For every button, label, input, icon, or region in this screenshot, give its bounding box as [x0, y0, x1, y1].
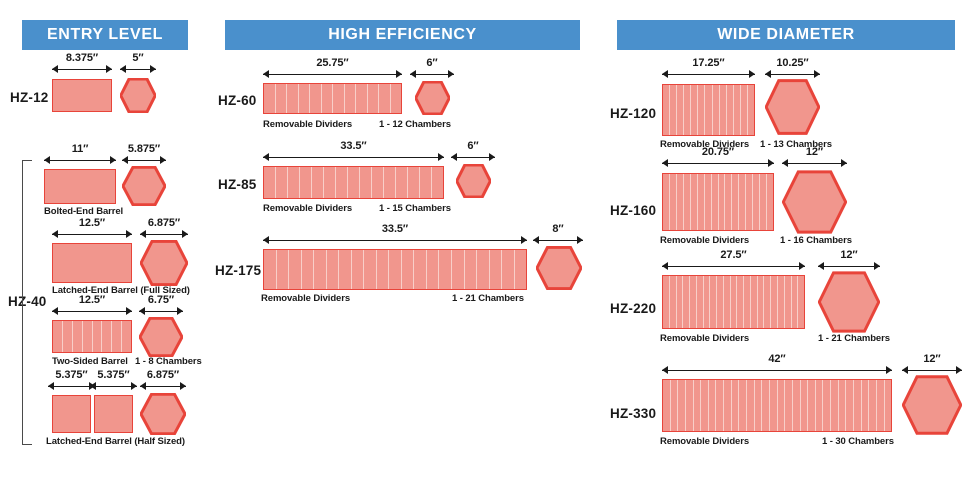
- arrowhead-right-icon: [814, 70, 820, 78]
- dimension-line-hex: [782, 159, 847, 168]
- chamber-segment: [704, 276, 711, 328]
- dimension-label: 5.875″: [122, 143, 166, 155]
- chamber-segment: [396, 167, 408, 198]
- chamber-segment: [744, 276, 751, 328]
- hexagon-shape: [902, 375, 962, 435]
- chamber-segment: [73, 321, 83, 352]
- chamber-segment: [276, 167, 288, 198]
- chamber-segment: [683, 276, 690, 328]
- dimension-label: 27.5″: [662, 249, 805, 261]
- chamber-segment: [122, 321, 131, 352]
- chamber-segment: [751, 276, 758, 328]
- arrowhead-left-icon: [90, 382, 96, 390]
- chamber-segment: [684, 85, 691, 135]
- shape-caption: 1 - 16 Chambers: [780, 235, 852, 246]
- chamber-segment: [670, 276, 677, 328]
- shape-caption: Removable Dividers: [263, 119, 352, 130]
- chamber-segment: [778, 380, 786, 431]
- arrowhead-left-icon: [263, 70, 269, 78]
- chamber-segment: [792, 276, 799, 328]
- arrowhead-left-icon: [782, 159, 788, 167]
- chamber-segment: [312, 167, 324, 198]
- shape-caption: Removable Dividers: [261, 293, 350, 304]
- group-bracket-hz-40: [22, 160, 32, 445]
- arrowhead-right-icon: [886, 366, 892, 374]
- chamber-segment: [663, 276, 670, 328]
- chamber-segment: [310, 84, 322, 113]
- arrowhead-right-icon: [956, 366, 962, 374]
- arrowhead-left-icon: [662, 70, 668, 78]
- barrel-rect: [52, 320, 132, 353]
- chamber-segment: [684, 174, 691, 230]
- dimension-bar: [533, 240, 583, 241]
- chamber-dividers: [53, 321, 131, 352]
- chamber-segment: [798, 276, 804, 328]
- dimension-line-hex: [765, 70, 820, 79]
- arrowhead-left-icon: [902, 366, 908, 374]
- chamber-segment: [732, 174, 739, 230]
- chamber-segment: [299, 84, 311, 113]
- chamber-segment: [725, 174, 732, 230]
- chamber-segment: [710, 276, 717, 328]
- chamber-segment: [93, 321, 103, 352]
- chamber-segment: [816, 380, 824, 431]
- chamber-segment: [746, 174, 753, 230]
- chamber-segment: [727, 85, 734, 135]
- chamber-segment: [705, 85, 712, 135]
- hexagon-shape: [818, 271, 880, 333]
- dimension-bar: [52, 234, 132, 235]
- chamber-segment: [713, 85, 720, 135]
- hexagon-shape: [140, 393, 186, 435]
- hexagon-shape: [140, 240, 188, 286]
- chamber-segment: [678, 380, 686, 431]
- model-label-hz-120: HZ-120: [610, 106, 656, 121]
- chamber-segment: [717, 276, 724, 328]
- chamber-segment: [287, 84, 299, 113]
- dimension-line-hex: [902, 366, 962, 375]
- arrowhead-right-icon: [110, 156, 116, 164]
- chamber-segment: [712, 174, 719, 230]
- dimension-label: 6″: [451, 140, 495, 152]
- chamber-segment: [391, 84, 402, 113]
- chamber-segment: [63, 321, 73, 352]
- dimension-label: 10.25″: [765, 57, 820, 69]
- shape-caption: 1 - 12 Chambers: [379, 119, 451, 130]
- chamber-segment: [288, 167, 300, 198]
- chamber-segment: [477, 250, 490, 289]
- chamber-segment: [694, 380, 702, 431]
- arrowhead-left-icon: [140, 382, 146, 390]
- arrowhead-left-icon: [263, 153, 269, 161]
- model-label-hz-160: HZ-160: [610, 203, 656, 218]
- arrowhead-right-icon: [841, 159, 847, 167]
- hexagon-shape: [120, 78, 156, 113]
- arrowhead-left-icon: [818, 262, 824, 270]
- dimension-bar: [52, 69, 112, 70]
- arrowhead-right-icon: [577, 236, 583, 244]
- chamber-segment: [698, 174, 705, 230]
- dimension-label: 5″: [120, 52, 156, 64]
- chamber-segment: [83, 321, 93, 352]
- dimension-bar: [782, 163, 847, 164]
- chamber-segment: [753, 174, 760, 230]
- arrowhead-left-icon: [44, 156, 50, 164]
- chamber-segment: [264, 250, 277, 289]
- chamber-segment: [670, 85, 677, 135]
- arrowhead-left-icon: [765, 70, 771, 78]
- chamber-segment: [439, 250, 452, 289]
- barrel-rect: [662, 173, 774, 231]
- dimension-label: 6.75″: [139, 294, 183, 306]
- dimension-label: 8″: [533, 223, 583, 235]
- arrowhead-right-icon: [160, 156, 166, 164]
- dimension-line-hex: [122, 156, 166, 165]
- chamber-segment: [452, 250, 465, 289]
- dimension-label: 20.75″: [662, 146, 774, 158]
- dimension-line-hex: [120, 65, 156, 74]
- arrowhead-right-icon: [150, 65, 156, 73]
- chamber-segment: [764, 276, 771, 328]
- chamber-segment: [698, 85, 705, 135]
- chamber-segment: [719, 174, 726, 230]
- barrel-rect: [52, 79, 112, 112]
- chamber-segment: [372, 167, 384, 198]
- barrel-rect: [52, 395, 91, 433]
- arrowhead-left-icon: [533, 236, 539, 244]
- arrowhead-right-icon: [182, 230, 188, 238]
- dimension-line-hex: [140, 382, 186, 391]
- arrowhead-left-icon: [410, 70, 416, 78]
- dimension-line-rect: [52, 307, 132, 316]
- dimension-bar: [902, 370, 962, 371]
- chamber-segment: [846, 380, 854, 431]
- arrowhead-right-icon: [874, 262, 880, 270]
- barrel-rect: [662, 84, 755, 136]
- shape-caption: 1 - 21 Chambers: [818, 333, 890, 344]
- chamber-dividers: [663, 174, 773, 230]
- chamber-segment: [322, 84, 334, 113]
- arrowhead-left-icon: [120, 65, 126, 73]
- barrel-rect: [662, 379, 892, 432]
- chamber-segment: [854, 380, 862, 431]
- model-label-hz-175: HZ-175: [215, 263, 261, 278]
- dimension-label: 12″: [782, 146, 847, 158]
- dimension-bar: [263, 74, 402, 75]
- chamber-segment: [427, 250, 440, 289]
- model-label-hz-12: HZ-12: [10, 90, 49, 105]
- chamber-segment: [663, 380, 671, 431]
- chamber-segment: [356, 84, 368, 113]
- shape-caption: Two-Sided Barrel: [52, 356, 128, 367]
- chamber-dividers: [264, 84, 401, 113]
- arrowhead-left-icon: [52, 230, 58, 238]
- chamber-segment: [716, 380, 724, 431]
- barrel-rect: [263, 166, 444, 199]
- dimension-line-rect: [52, 230, 132, 239]
- hexagon-shape: [415, 81, 450, 115]
- dimension-bar: [662, 266, 805, 267]
- shape-caption: Latched-End Barrel (Half Sized): [46, 436, 185, 447]
- chamber-dividers: [264, 167, 443, 198]
- hexagon-shape: [536, 246, 582, 290]
- arrowhead-right-icon: [448, 70, 454, 78]
- arrowhead-left-icon: [139, 307, 145, 315]
- diagram-canvas: ENTRY LEVELHZ-128.375″5″HZ-4011″Bolted-E…: [0, 0, 980, 478]
- dimension-bar: [662, 74, 755, 75]
- chamber-segment: [785, 276, 792, 328]
- chamber-segment: [677, 276, 684, 328]
- dimension-line-rect: [48, 382, 95, 391]
- barrel-rect: [44, 169, 116, 204]
- dimension-label: 5.375″: [90, 369, 137, 381]
- arrowhead-right-icon: [106, 65, 112, 73]
- dimension-line-hex: [818, 262, 880, 271]
- chamber-segment: [709, 380, 717, 431]
- arrowhead-right-icon: [749, 70, 755, 78]
- chamber-segment: [345, 84, 357, 113]
- model-label-hz-60: HZ-60: [218, 93, 257, 108]
- dimension-label: 42″: [662, 353, 892, 365]
- chamber-segment: [885, 380, 892, 431]
- chamber-segment: [348, 167, 360, 198]
- chamber-segment: [705, 174, 712, 230]
- chamber-segment: [379, 84, 391, 113]
- chamber-segment: [663, 174, 670, 230]
- arrowhead-right-icon: [396, 70, 402, 78]
- chamber-segment: [264, 167, 276, 198]
- dimension-bar: [818, 266, 880, 267]
- dimension-label: 12.5″: [52, 217, 132, 229]
- chamber-segment: [697, 276, 704, 328]
- arrowhead-right-icon: [489, 153, 495, 161]
- chamber-segment: [360, 167, 372, 198]
- chamber-segment: [368, 84, 380, 113]
- chamber-segment: [276, 84, 288, 113]
- chamber-segment: [686, 380, 694, 431]
- arrowhead-right-icon: [438, 153, 444, 161]
- dimension-label: 6.875″: [140, 217, 188, 229]
- chamber-segment: [778, 276, 785, 328]
- dimension-bar: [52, 311, 132, 312]
- arrowhead-left-icon: [263, 236, 269, 244]
- dimension-bar: [662, 163, 774, 164]
- chamber-segment: [869, 380, 877, 431]
- column-header-entry-level: ENTRY LEVEL: [22, 20, 188, 50]
- chamber-segment: [314, 250, 327, 289]
- chamber-segment: [420, 167, 432, 198]
- chamber-dividers: [264, 250, 526, 289]
- dimension-line-rect: [263, 236, 527, 245]
- chamber-segment: [877, 380, 885, 431]
- arrowhead-left-icon: [122, 156, 128, 164]
- dimension-label: 17.25″: [662, 57, 755, 69]
- arrowhead-right-icon: [131, 382, 137, 390]
- chamber-segment: [465, 250, 478, 289]
- chamber-segment: [734, 85, 741, 135]
- barrel-rect: [263, 83, 402, 114]
- chamber-segment: [862, 380, 870, 431]
- dimension-label: 25.75″: [263, 57, 402, 69]
- chamber-segment: [801, 380, 809, 431]
- chamber-segment: [336, 167, 348, 198]
- chamber-segment: [831, 380, 839, 431]
- chamber-segment: [327, 250, 340, 289]
- chamber-segment: [701, 380, 709, 431]
- chamber-segment: [758, 276, 765, 328]
- chamber-segment: [515, 250, 527, 289]
- model-label-hz-85: HZ-85: [218, 177, 257, 192]
- dimension-line-rect: [90, 382, 137, 391]
- chamber-segment: [691, 174, 698, 230]
- dimension-line-rect: [263, 153, 444, 162]
- chamber-segment: [839, 380, 847, 431]
- chamber-segment: [339, 250, 352, 289]
- arrowhead-left-icon: [48, 382, 54, 390]
- dimension-label: 6″: [410, 57, 454, 69]
- arrowhead-left-icon: [662, 366, 668, 374]
- chamber-segment: [384, 167, 396, 198]
- dimension-bar: [140, 234, 188, 235]
- chamber-segment: [677, 174, 684, 230]
- dimension-bar: [263, 157, 444, 158]
- shape-caption: Removable Dividers: [660, 235, 749, 246]
- chamber-dividers: [663, 276, 804, 328]
- chamber-segment: [690, 276, 697, 328]
- shape-caption: 1 - 8 Chambers: [135, 356, 202, 367]
- arrowhead-right-icon: [126, 230, 132, 238]
- chamber-segment: [793, 380, 801, 431]
- chamber-segment: [289, 250, 302, 289]
- chamber-segment: [677, 85, 684, 135]
- chamber-segment: [762, 380, 770, 431]
- chamber-segment: [741, 85, 748, 135]
- chamber-segment: [377, 250, 390, 289]
- chamber-segment: [823, 380, 831, 431]
- chamber-segment: [302, 250, 315, 289]
- dimension-line-rect: [52, 65, 112, 74]
- arrowhead-left-icon: [662, 159, 668, 167]
- dimension-label: 12.5″: [52, 294, 132, 306]
- arrowhead-right-icon: [177, 307, 183, 315]
- dimension-bar: [44, 160, 116, 161]
- shape-caption: Removable Dividers: [660, 333, 749, 344]
- chamber-segment: [691, 85, 698, 135]
- barrel-rect: [52, 243, 132, 283]
- chamber-segment: [748, 85, 754, 135]
- barrel-rect: [94, 395, 133, 433]
- chamber-segment: [747, 380, 755, 431]
- column-header-wide-diameter: WIDE DIAMETER: [617, 20, 955, 50]
- chamber-segment: [737, 276, 744, 328]
- chamber-segment: [755, 380, 763, 431]
- shape-caption: Bolted-End Barrel: [44, 206, 123, 217]
- dimension-line-rect: [662, 159, 774, 168]
- chamber-segment: [760, 174, 767, 230]
- chamber-segment: [277, 250, 290, 289]
- arrowhead-right-icon: [521, 236, 527, 244]
- chamber-segment: [389, 250, 402, 289]
- shape-caption: Removable Dividers: [263, 203, 352, 214]
- chamber-segment: [670, 174, 677, 230]
- chamber-segment: [739, 380, 747, 431]
- chamber-segment: [720, 85, 727, 135]
- shape-caption: Removable Dividers: [660, 436, 749, 447]
- model-label-hz-330: HZ-330: [610, 406, 656, 421]
- model-label-hz-220: HZ-220: [610, 301, 656, 316]
- dimension-line-hex: [410, 70, 454, 79]
- chamber-segment: [724, 276, 731, 328]
- hexagon-shape: [122, 166, 166, 206]
- chamber-segment: [739, 174, 746, 230]
- dimension-line-rect: [44, 156, 116, 165]
- chamber-segment: [408, 167, 420, 198]
- chamber-segment: [785, 380, 793, 431]
- dimension-label: 12″: [818, 249, 880, 261]
- arrowhead-left-icon: [52, 307, 58, 315]
- hexagon-shape: [782, 170, 847, 234]
- chamber-segment: [770, 380, 778, 431]
- chamber-segment: [732, 380, 740, 431]
- dimension-bar: [263, 240, 527, 241]
- arrowhead-right-icon: [126, 307, 132, 315]
- arrowhead-right-icon: [180, 382, 186, 390]
- arrowhead-left-icon: [140, 230, 146, 238]
- hexagon-shape: [139, 317, 183, 357]
- dimension-bar: [90, 386, 137, 387]
- chamber-segment: [53, 321, 63, 352]
- arrowhead-right-icon: [799, 262, 805, 270]
- chamber-segment: [663, 85, 670, 135]
- hexagon-shape: [765, 79, 820, 135]
- dimension-label: 33.5″: [263, 223, 527, 235]
- chamber-segment: [502, 250, 515, 289]
- chamber-segment: [724, 380, 732, 431]
- shape-caption: 1 - 21 Chambers: [452, 293, 524, 304]
- dimension-line-hex: [140, 230, 188, 239]
- dimension-bar: [662, 370, 892, 371]
- arrowhead-left-icon: [662, 262, 668, 270]
- dimension-line-rect: [263, 70, 402, 79]
- dimension-line-hex: [451, 153, 495, 162]
- dimension-label: 6.875″: [140, 369, 186, 381]
- dimension-line-rect: [662, 262, 805, 271]
- barrel-rect: [662, 275, 805, 329]
- chamber-segment: [771, 276, 778, 328]
- arrowhead-left-icon: [52, 65, 58, 73]
- chamber-segment: [102, 321, 112, 352]
- dimension-line-rect: [662, 70, 755, 79]
- chamber-segment: [414, 250, 427, 289]
- chamber-segment: [333, 84, 345, 113]
- arrowhead-right-icon: [768, 159, 774, 167]
- shape-caption: 1 - 15 Chambers: [379, 203, 451, 214]
- chamber-segment: [767, 174, 773, 230]
- dimension-label: 8.375″: [52, 52, 112, 64]
- shape-caption: 1 - 30 Chambers: [822, 436, 894, 447]
- chamber-segment: [324, 167, 336, 198]
- chamber-segment: [112, 321, 122, 352]
- chamber-dividers: [663, 380, 891, 431]
- hexagon-shape: [456, 164, 491, 198]
- dimension-bar: [48, 386, 95, 387]
- chamber-segment: [490, 250, 503, 289]
- chamber-dividers: [663, 85, 754, 135]
- barrel-rect: [263, 249, 527, 290]
- chamber-segment: [264, 84, 276, 113]
- chamber-segment: [671, 380, 679, 431]
- chamber-segment: [352, 250, 365, 289]
